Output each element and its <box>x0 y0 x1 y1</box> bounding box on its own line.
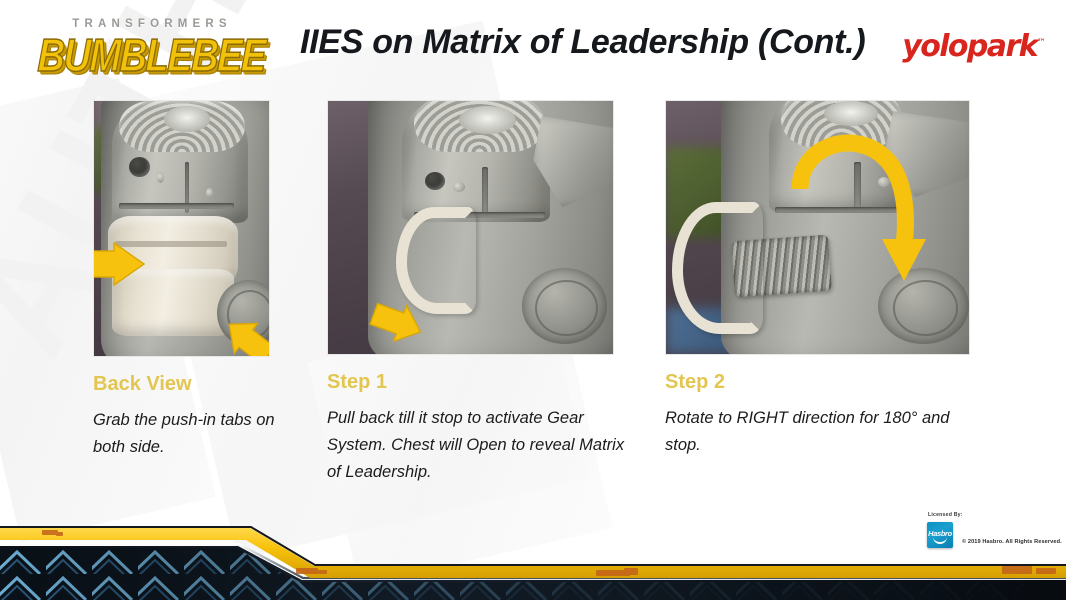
slide-canvas: AUTHENTIC TRANSFORMERS BUMBLEBEE IIES on… <box>0 0 1066 600</box>
panel-heading: Step 1 <box>327 371 614 393</box>
photo-step-1 <box>327 100 614 355</box>
panel-body-text: Pull back till it stop to activate Gear … <box>327 405 627 486</box>
yolopark-wordmark: yolopark <box>902 29 1037 64</box>
curved-rotation-arrow-icon <box>792 127 922 307</box>
slide-header: TRANSFORMERS BUMBLEBEE IIES on Matrix of… <box>0 0 1066 92</box>
panel-heading: Back View <box>93 373 270 395</box>
step-panel-step-2: Step 2 Rotate to RIGHT direction for 180… <box>665 100 970 459</box>
panel-body-text: Rotate to RIGHT direction for 180° and s… <box>665 405 965 459</box>
step-panel-step-1: Step 1 Pull back till it stop to activat… <box>327 100 614 486</box>
photo-step-2 <box>665 100 970 355</box>
arrow-pointing-right-icon <box>93 241 148 287</box>
panel-body-text: Grab the push-in tabs on both side. <box>93 407 299 461</box>
bumblebee-wordmark: BUMBLEBEE <box>17 32 286 81</box>
trademark-symbol: ™ <box>1037 38 1046 48</box>
page-title: IIES on Matrix of Leadership (Cont.) <box>300 18 900 66</box>
arrow-pointing-up-left-icon <box>220 319 270 357</box>
steps-container: Back View Grab the push-in tabs on both … <box>0 100 1066 510</box>
transformers-wordmark: TRANSFORMERS <box>18 18 286 31</box>
arrow-pointing-down-left-icon <box>364 283 428 345</box>
slide-footer <box>0 522 1066 600</box>
step-panel-back-view: Back View Grab the push-in tabs on both … <box>93 100 270 461</box>
panel-heading: Step 2 <box>665 371 970 393</box>
bumblebee-logo: TRANSFORMERS BUMBLEBEE <box>18 18 286 76</box>
footer-decoration <box>0 522 1066 600</box>
photo-scene <box>94 101 269 356</box>
photo-back-view <box>93 100 270 357</box>
licensed-by-label: Licensed By: <box>928 512 963 518</box>
yolopark-logo: yolopark™ <box>902 26 1046 64</box>
